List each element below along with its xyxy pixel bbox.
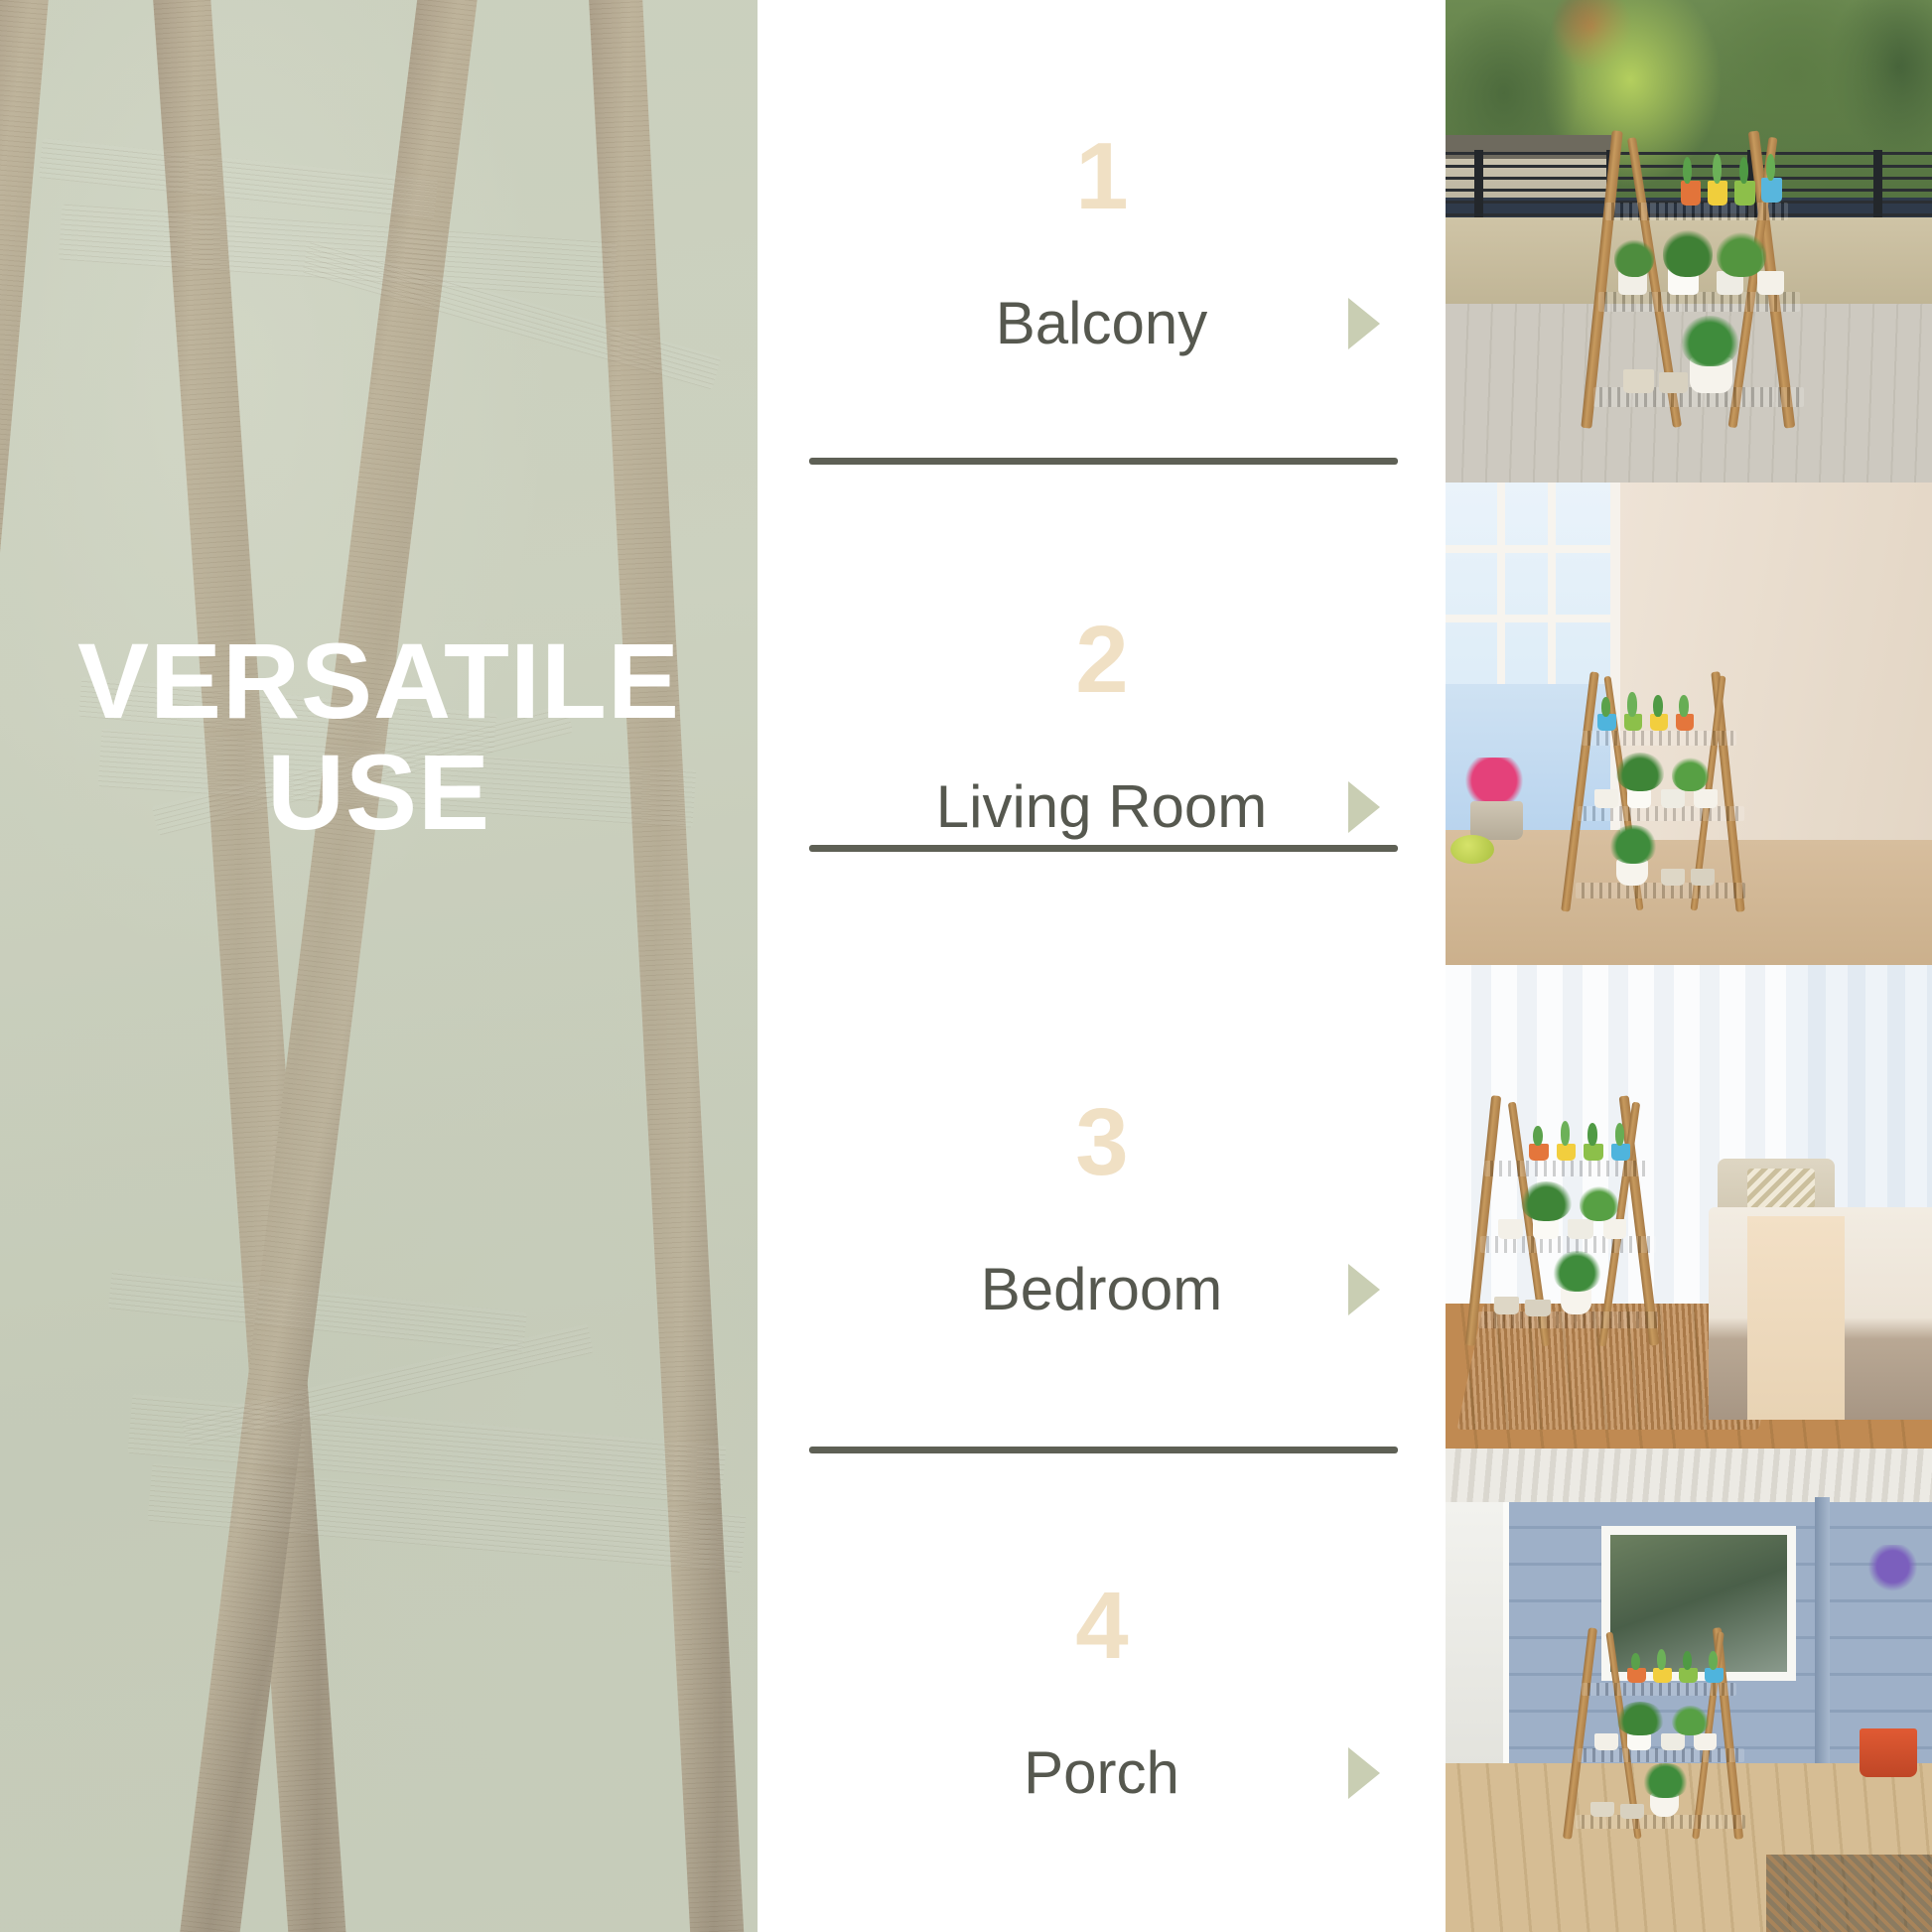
pot-yellow xyxy=(1708,181,1727,205)
page-title: VERSATILE USE xyxy=(0,625,758,849)
pot-blue xyxy=(1705,1668,1724,1683)
use-label-2: Living Room xyxy=(936,777,1268,837)
pot-blue xyxy=(1611,1144,1631,1162)
scene-photo-bedroom xyxy=(1446,965,1932,1449)
scene-photo-porch xyxy=(1446,1449,1932,1932)
cactus xyxy=(1631,1653,1640,1670)
plant-stand xyxy=(1572,1627,1756,1840)
cactus xyxy=(1683,157,1692,184)
porch-scene xyxy=(1446,1449,1932,1932)
porch-white-door xyxy=(1446,1502,1509,1782)
hero-overlay-scrim xyxy=(0,0,758,1932)
deck-lattice xyxy=(1766,1855,1932,1932)
pot-orange xyxy=(1627,1668,1646,1683)
scene-photo-balcony xyxy=(1446,0,1932,483)
foliage xyxy=(1614,238,1655,277)
porch-roof-panels xyxy=(1446,1449,1932,1502)
foliage xyxy=(1663,229,1713,277)
use-name-row-4: Porch xyxy=(758,1743,1446,1803)
pot-white xyxy=(1627,789,1651,808)
use-item-balcony[interactable]: 1 Balcony xyxy=(758,0,1446,483)
pot-white xyxy=(1594,1733,1618,1750)
pot-white xyxy=(1498,1219,1523,1239)
pot-green xyxy=(1679,1668,1698,1683)
use-number-3: 3 xyxy=(1075,1095,1127,1190)
foliage xyxy=(1580,1186,1618,1221)
cactus xyxy=(1627,692,1636,716)
pot-white xyxy=(1694,789,1718,808)
pot-white xyxy=(1603,1219,1627,1239)
flowering-plant xyxy=(1609,825,1657,864)
infographic-page: VERSATILE USE 1 Balcony 2 Living Room 3 … xyxy=(0,0,1932,1932)
cactus xyxy=(1587,1123,1597,1146)
balcony-rail-post xyxy=(1873,150,1882,217)
divider-2 xyxy=(809,845,1398,852)
pot-white xyxy=(1533,1219,1558,1239)
cactus xyxy=(1713,154,1722,184)
pot-box xyxy=(1620,1804,1644,1819)
pot-white xyxy=(1661,1733,1685,1750)
flowering-plant xyxy=(1553,1251,1601,1292)
metal-planter xyxy=(1470,801,1524,840)
scene-photo-column xyxy=(1446,0,1932,1932)
hero-panel: VERSATILE USE xyxy=(0,0,758,1932)
scene-photo-living-room xyxy=(1446,483,1932,965)
cactus xyxy=(1679,695,1688,717)
balcony-rail-post xyxy=(1474,150,1483,217)
foliage xyxy=(1717,232,1766,277)
play-triangle-icon[interactable] xyxy=(1348,1747,1380,1799)
pot-box xyxy=(1623,369,1655,393)
pot-white xyxy=(1661,789,1685,808)
pot-blue xyxy=(1761,178,1781,202)
use-label-3: Bedroom xyxy=(981,1260,1222,1319)
cactus xyxy=(1561,1121,1571,1146)
foliage xyxy=(1672,1706,1709,1735)
pot-box xyxy=(1691,869,1715,886)
cactus xyxy=(1615,1123,1625,1146)
foliage xyxy=(1672,758,1709,791)
use-item-porch[interactable]: 4 Porch xyxy=(758,1449,1446,1932)
pot-white xyxy=(1694,1733,1716,1750)
use-number-2: 2 xyxy=(1075,613,1127,708)
pot-green xyxy=(1734,181,1754,205)
cactus xyxy=(1739,157,1748,184)
pot-box xyxy=(1494,1297,1519,1314)
divider-3 xyxy=(809,1447,1398,1453)
foliage xyxy=(1616,1702,1664,1735)
living-room-scene xyxy=(1446,483,1932,965)
balcony-scene xyxy=(1446,0,1932,483)
red-planter-pot xyxy=(1860,1728,1918,1777)
pot-box xyxy=(1661,869,1685,886)
plant-stand xyxy=(1572,671,1756,912)
use-label-1: Balcony xyxy=(996,294,1207,353)
bedroom-throw-blanket xyxy=(1747,1216,1845,1420)
play-triangle-icon[interactable] xyxy=(1348,298,1380,349)
use-label-4: Porch xyxy=(1024,1743,1179,1803)
flowering-plant xyxy=(1681,316,1739,366)
use-name-row-2: Living Room xyxy=(758,777,1446,837)
cactus xyxy=(1766,154,1775,181)
use-number-4: 4 xyxy=(1075,1579,1127,1674)
headline-line-2: USE xyxy=(0,737,758,848)
use-name-row-1: Balcony xyxy=(758,294,1446,353)
pot-box xyxy=(1590,1802,1614,1817)
play-triangle-icon[interactable] xyxy=(1348,781,1380,833)
pot-orange xyxy=(1529,1144,1549,1162)
pot-white xyxy=(1594,789,1618,808)
pot-yellow xyxy=(1557,1144,1577,1162)
pot-green xyxy=(1624,714,1643,731)
use-name-row-3: Bedroom xyxy=(758,1260,1446,1319)
green-apples xyxy=(1450,835,1494,864)
pot-white xyxy=(1568,1219,1592,1239)
pot-box xyxy=(1659,372,1688,393)
plant-stand xyxy=(1591,130,1815,429)
headline-line-1: VERSATILE xyxy=(77,621,680,741)
play-triangle-icon[interactable] xyxy=(1348,1264,1380,1315)
cactus xyxy=(1653,695,1662,717)
pot-white xyxy=(1757,271,1784,295)
use-item-living-room[interactable]: 2 Living Room xyxy=(758,483,1446,967)
bedroom-scene xyxy=(1446,965,1932,1449)
flowering-plant xyxy=(1642,1763,1689,1797)
hanging-flower-basket xyxy=(1863,1545,1922,1593)
pot-yellow xyxy=(1653,1668,1672,1683)
use-label-column: 1 Balcony 2 Living Room 3 Bedroom 4 Porc… xyxy=(758,0,1446,1932)
use-item-bedroom[interactable]: 3 Bedroom xyxy=(758,966,1446,1449)
use-number-1: 1 xyxy=(1075,129,1127,224)
foliage xyxy=(1616,753,1664,791)
cactus xyxy=(1601,697,1610,716)
pot-orange xyxy=(1681,181,1701,205)
pot-orange xyxy=(1676,714,1695,731)
pot-white xyxy=(1627,1733,1651,1750)
divider-1 xyxy=(809,458,1398,465)
plant-stand xyxy=(1474,1095,1669,1346)
foliage xyxy=(1521,1181,1572,1222)
hero-product-photo xyxy=(0,0,758,1932)
cactus xyxy=(1657,1649,1666,1670)
pot-blue xyxy=(1597,714,1616,731)
cactus xyxy=(1683,1651,1692,1670)
pot-box xyxy=(1525,1300,1550,1317)
cactus xyxy=(1533,1126,1543,1146)
pot-green xyxy=(1584,1144,1603,1162)
pot-yellow xyxy=(1650,714,1669,731)
porch-support-post xyxy=(1815,1497,1830,1777)
